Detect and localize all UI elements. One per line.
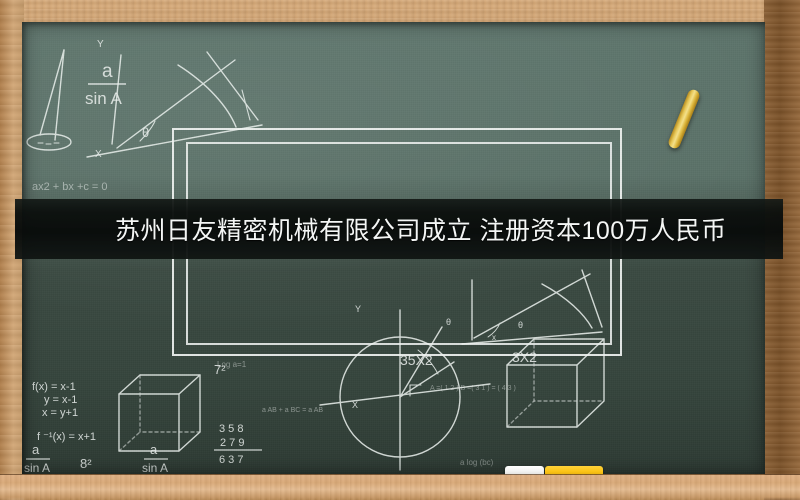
chalk-label-x2: X bbox=[352, 400, 358, 410]
chalkboard-scene: a sin A Y X θ ax2 + bx +c = 0 f(x) = x-1… bbox=[0, 0, 800, 500]
chalk-text-sinA: sin A bbox=[85, 89, 123, 108]
chalk-label-y: Y bbox=[97, 39, 104, 50]
chalk-label-x: X bbox=[95, 149, 102, 160]
chalk-text-num2: 2 7 9 bbox=[220, 437, 244, 449]
chalk-text-abc: a AB + a BC = a AB bbox=[262, 407, 323, 414]
chalk-text-num3: 6 3 7 bbox=[219, 454, 243, 466]
caption-banner: 苏州日友精密机械有限公司成立 注册资本100万人民币 bbox=[15, 199, 783, 259]
chalk-text-sinA3: sin A bbox=[142, 461, 168, 474]
chalk-text-finv: f ⁻¹(x) = x+1 bbox=[37, 431, 96, 443]
chalk-text-sinA2: sin A bbox=[24, 461, 50, 474]
chalk-text-quadratic: ax2 + bx +c = 0 bbox=[32, 181, 108, 193]
chalk-text-loga: Log a=1 bbox=[217, 360, 247, 369]
chalk-text-num1: 3 5 8 bbox=[219, 423, 243, 435]
frame-top-grain bbox=[0, 0, 800, 22]
chalk-text-fx: f(x) = x-1 bbox=[32, 381, 76, 393]
cube-drawing bbox=[119, 375, 200, 451]
cone-drawing bbox=[27, 50, 71, 150]
chalk-ledge bbox=[0, 474, 800, 500]
chalk-label-theta: θ bbox=[142, 125, 149, 140]
chalk-text-a2: a bbox=[32, 442, 40, 457]
chalk-text-alogbc: a log (bc) bbox=[460, 458, 494, 467]
chalk-text-a3: a bbox=[150, 442, 158, 457]
chalk-text-y-eq: y = x-1 bbox=[44, 394, 77, 406]
chalk-text-a: a bbox=[102, 61, 113, 82]
chalk-text-x-eq: x = y+1 bbox=[42, 407, 78, 419]
caption-text: 苏州日友精密机械有限公司成立 注册资本100万人民币 bbox=[115, 211, 727, 247]
chalk-text-8sq: 8² bbox=[80, 456, 92, 471]
chalk-text-matrices: A =( 1 2 ) B =( 3 1 ) = ( 4 3 ) bbox=[430, 385, 516, 392]
